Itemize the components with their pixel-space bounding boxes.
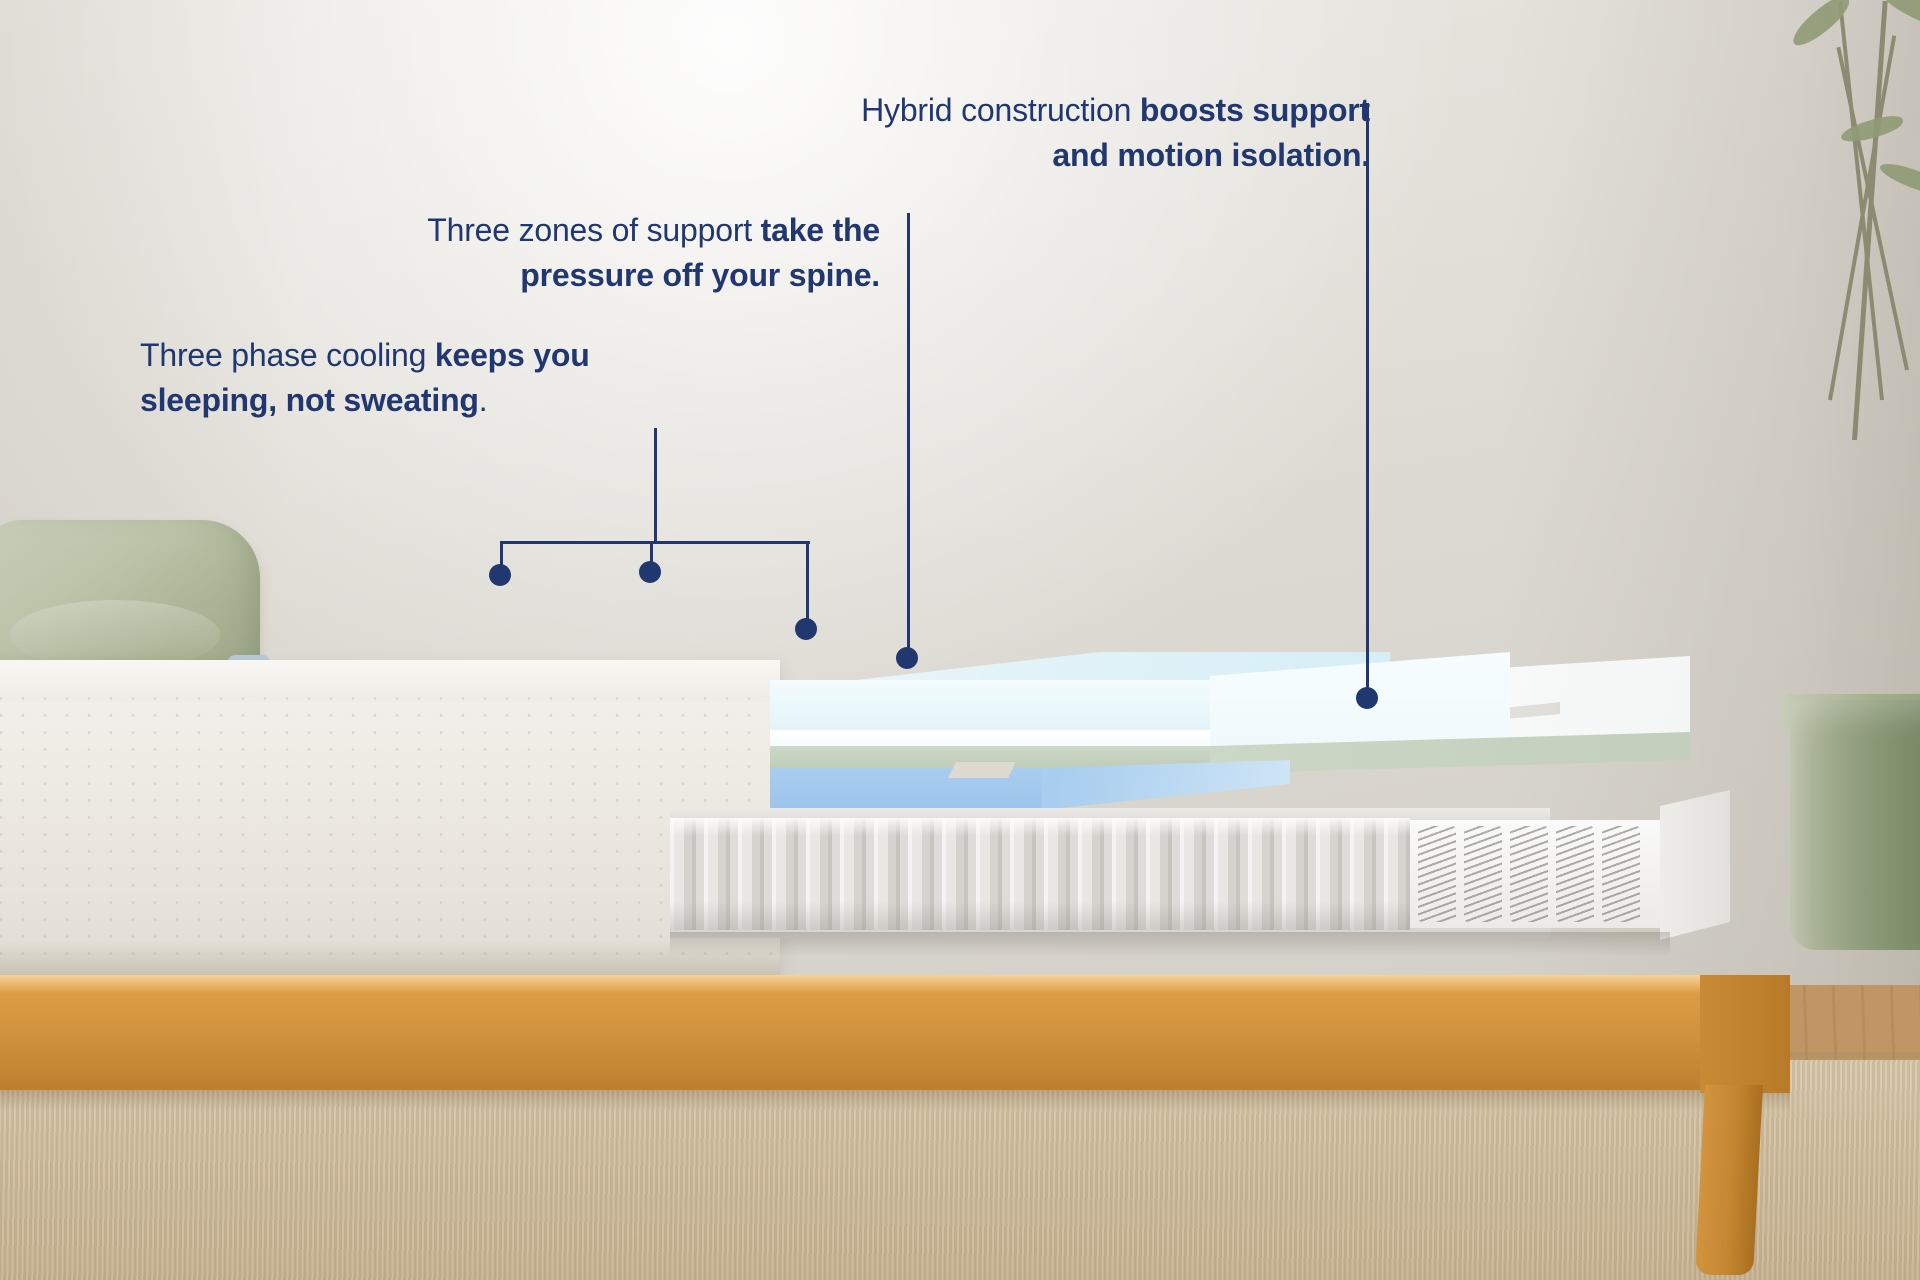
mattress-cross-section <box>770 640 1750 985</box>
callout-zones-line-2: pressure off your spine. <box>400 253 880 298</box>
coil-bottom-shade <box>670 902 1410 930</box>
leader-hybrid-vertical <box>1366 103 1369 703</box>
callout-hybrid-text-bold-2: and motion isolation. <box>1052 137 1370 173</box>
leader-cooling-vertical <box>654 428 657 544</box>
dot-support-core[interactable] <box>896 647 918 669</box>
cooling-cover-layer <box>770 680 1210 732</box>
callout-cooling-line-2: sleeping, not sweating. <box>140 378 630 423</box>
pocket-spring <box>1510 826 1548 922</box>
pocket-spring <box>1602 826 1640 922</box>
pocket-spring <box>1418 826 1456 922</box>
coil-top-highlight <box>670 818 1410 836</box>
pocket-spring <box>1556 826 1594 922</box>
callout-hybrid-text-regular: Hybrid construction <box>861 92 1140 128</box>
callout-zones-text-bold-2: pressure off your spine. <box>520 257 880 293</box>
callout-three-phase-cooling: Three phase cooling keeps you sleeping, … <box>140 333 630 424</box>
scene-stage: Hybrid construction boosts support and m… <box>0 0 1920 1280</box>
leader-zones-vertical <box>907 213 910 665</box>
pocket-spring <box>1464 826 1502 922</box>
callout-hybrid-construction: Hybrid construction boosts support and m… <box>840 88 1370 179</box>
callout-cooling-text-regular: Three phase cooling <box>140 337 435 373</box>
plant-pot <box>1790 700 1920 950</box>
callout-hybrid-line-1: Hybrid construction boosts support <box>840 88 1370 133</box>
callout-three-zones-of-support: Three zones of support take the pressure… <box>400 208 880 299</box>
callout-cooling-text-bold: keeps you <box>435 337 590 373</box>
dot-zones[interactable] <box>795 618 817 640</box>
bed-frame-highlight <box>0 975 1790 993</box>
callout-zones-text-bold: take the <box>761 212 880 248</box>
callout-zones-line-1: Three zones of support take the <box>400 208 880 253</box>
cross-section-shadow <box>670 932 1670 956</box>
callout-zones-text-regular: Three zones of support <box>427 212 760 248</box>
bed-frame-corner <box>1700 975 1790 1093</box>
callout-cooling-text-bold-2: sleeping, not sweating <box>140 382 479 418</box>
mattress-quilting-texture <box>0 690 780 960</box>
zone-divider-tab <box>948 762 1016 778</box>
dot-hybrid[interactable] <box>1356 687 1378 709</box>
callout-cooling-line-1: Three phase cooling keeps you <box>140 333 630 378</box>
callout-hybrid-text-bold: boosts support <box>1140 92 1370 128</box>
leader-horizontal-bus <box>500 541 810 544</box>
bed-frame-leg <box>1695 1085 1763 1275</box>
dot-cooling[interactable] <box>489 564 511 586</box>
callout-hybrid-line-2: and motion isolation. <box>840 133 1370 178</box>
callout-cooling-text-regular-2: . <box>479 382 488 418</box>
mattress-end-cap <box>1660 790 1730 940</box>
dot-zone-marker[interactable] <box>639 561 661 583</box>
